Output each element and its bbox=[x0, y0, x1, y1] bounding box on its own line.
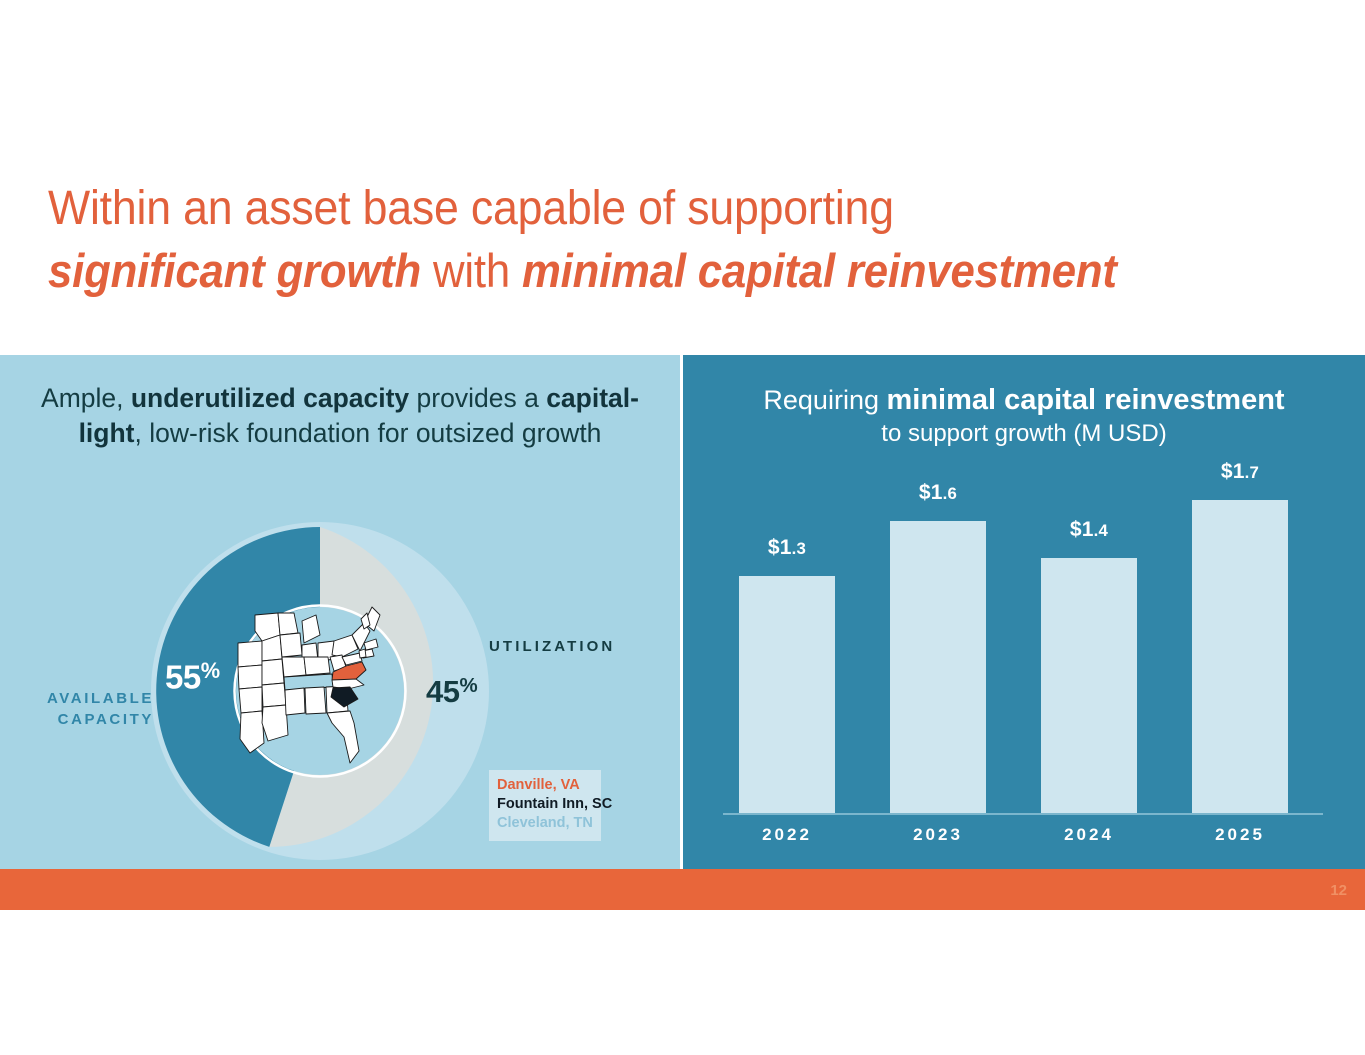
bar-value-2022-whole: $1 bbox=[768, 536, 792, 559]
utilization-number: 45 bbox=[426, 674, 459, 709]
bar-value-2024-whole: $1 bbox=[1070, 518, 1094, 541]
chart-axis-baseline bbox=[723, 813, 1323, 815]
left-panel-heading: Ample, underutilized capacity provides a… bbox=[36, 381, 644, 451]
title-line-1: Within an asset base capable of supporti… bbox=[48, 178, 1238, 240]
map-state-illinois bbox=[280, 633, 302, 657]
capex-bar-chart: $1.3 2022 $1.6 2023 $1.4 2024 $1.7 2025 bbox=[683, 355, 1365, 869]
donut-label-utilization: UTILIZATION bbox=[489, 638, 615, 655]
bar-value-2025-dec: .7 bbox=[1245, 463, 1259, 482]
title-emphasis-reinvestment: minimal capital reinvestment bbox=[522, 244, 1117, 297]
map-state-mississippi bbox=[285, 688, 305, 715]
map-legend: Danville, VA Fountain Inn, SC Cleveland,… bbox=[489, 770, 601, 841]
bar-label-2025: 2025 bbox=[1192, 825, 1288, 845]
map-state-texas bbox=[240, 711, 264, 753]
slide-canvas: Within an asset base capable of supporti… bbox=[0, 0, 1365, 1055]
bar-value-2023-dec: .6 bbox=[943, 484, 957, 503]
left-heading-part1: Ample, bbox=[41, 383, 131, 413]
bar-value-2025: $1.7 bbox=[1192, 460, 1288, 484]
legend-item-cleveland: Cleveland, TN bbox=[497, 814, 593, 833]
bar-rect-2025 bbox=[1192, 500, 1288, 813]
bar-value-2022-dec: .3 bbox=[792, 539, 806, 558]
page-title: Within an asset base capable of supporti… bbox=[48, 178, 1328, 302]
map-state-new-jersey bbox=[359, 649, 366, 658]
map-state-kansas bbox=[238, 665, 262, 689]
left-heading-part2: provides a bbox=[409, 383, 546, 413]
map-state-missouri bbox=[262, 659, 284, 685]
map-state-louisiana bbox=[262, 705, 288, 741]
map-state-nebraska bbox=[238, 641, 262, 667]
map-state-oklahoma bbox=[239, 687, 262, 713]
map-state-kentucky-west bbox=[282, 657, 306, 677]
footer-bar bbox=[0, 869, 1365, 910]
map-state-michigan bbox=[302, 615, 320, 643]
bar-value-2024-dec: .4 bbox=[1094, 521, 1108, 540]
map-state-massachusetts bbox=[364, 639, 378, 650]
donut-label-available-capacity: AVAILABLE CAPACITY bbox=[30, 688, 154, 730]
bar-label-2022: 2022 bbox=[739, 825, 835, 845]
donut-value-utilization: 45% bbox=[426, 674, 477, 710]
map-state-kentucky-east bbox=[304, 657, 330, 675]
map-state-florida bbox=[327, 711, 359, 763]
bar-rect-2022 bbox=[739, 576, 835, 813]
title-connector: with bbox=[421, 244, 522, 297]
map-state-arkansas bbox=[262, 683, 286, 707]
bar-value-2022: $1.3 bbox=[739, 536, 835, 560]
bar-label-2023: 2023 bbox=[890, 825, 986, 845]
bar-rect-2024 bbox=[1041, 558, 1137, 813]
available-number: 55 bbox=[165, 658, 201, 695]
title-line-2: significant growth with minimal capital … bbox=[48, 240, 1238, 302]
left-heading-bold-underutilized: underutilized capacity bbox=[131, 383, 409, 413]
page-number: 12 bbox=[1330, 882, 1347, 899]
available-percent-sign: % bbox=[201, 658, 220, 683]
left-heading-part3: , low-risk foundation for outsized growt… bbox=[135, 418, 602, 448]
bar-value-2023-whole: $1 bbox=[919, 481, 943, 504]
donut-value-available-capacity: 55% bbox=[165, 658, 220, 696]
legend-item-danville: Danville, VA bbox=[497, 776, 593, 795]
legend-item-fountain-inn: Fountain Inn, SC bbox=[497, 795, 593, 814]
title-emphasis-growth: significant growth bbox=[48, 244, 421, 297]
right-panel: Requiring minimal capital reinvestment t… bbox=[683, 355, 1365, 869]
bar-value-2024: $1.4 bbox=[1041, 518, 1137, 542]
map-state-wisconsin bbox=[278, 613, 298, 635]
bar-label-2024: 2024 bbox=[1041, 825, 1137, 845]
bar-rect-2023 bbox=[890, 521, 986, 813]
map-state-alabama bbox=[305, 687, 326, 714]
bar-value-2023: $1.6 bbox=[890, 481, 986, 505]
us-map-graphic bbox=[228, 601, 418, 796]
bar-value-2025-whole: $1 bbox=[1221, 460, 1245, 483]
utilization-percent-sign: % bbox=[459, 674, 477, 697]
